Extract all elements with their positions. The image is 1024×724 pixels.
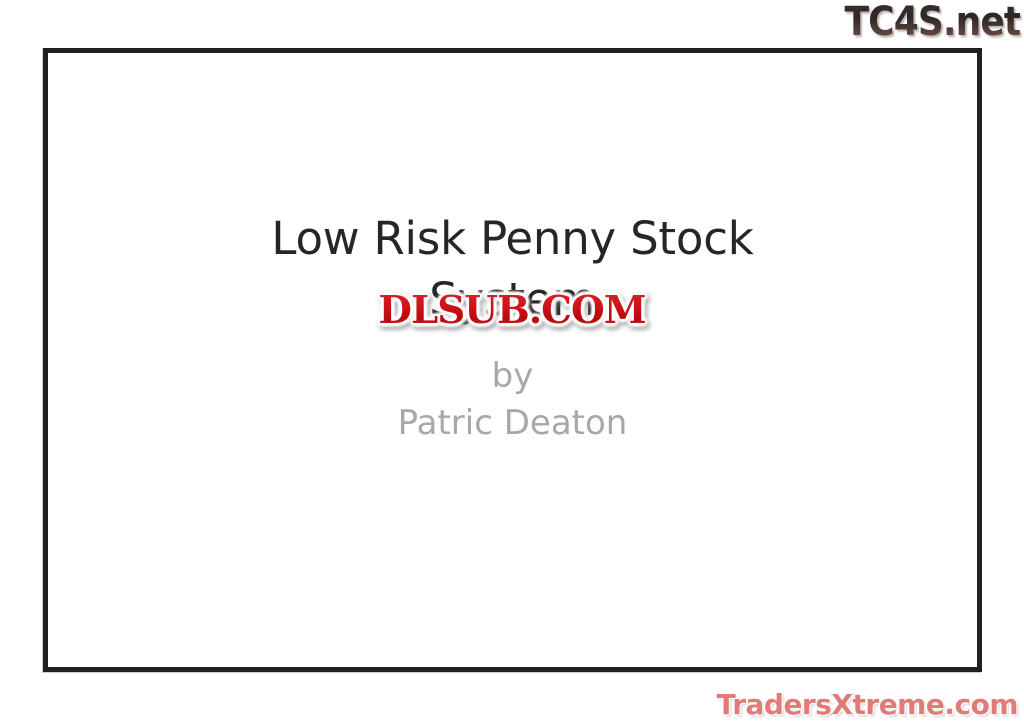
slide-title: Low Risk Penny Stock System <box>48 208 977 330</box>
tradersxtreme-watermark: TradersXtreme.com <box>717 688 1018 722</box>
slide-byline: by <box>48 353 977 400</box>
page-canvas: TC4S.net Low Risk Penny Stock System by … <box>0 0 1024 724</box>
site-logo-tc4s: TC4S.net <box>844 0 1020 44</box>
slide-content: Low Risk Penny Stock System by Patric De… <box>48 53 977 667</box>
slide-frame: Low Risk Penny Stock System by Patric De… <box>43 48 982 672</box>
slide-author-name: Patric Deaton <box>48 400 977 447</box>
